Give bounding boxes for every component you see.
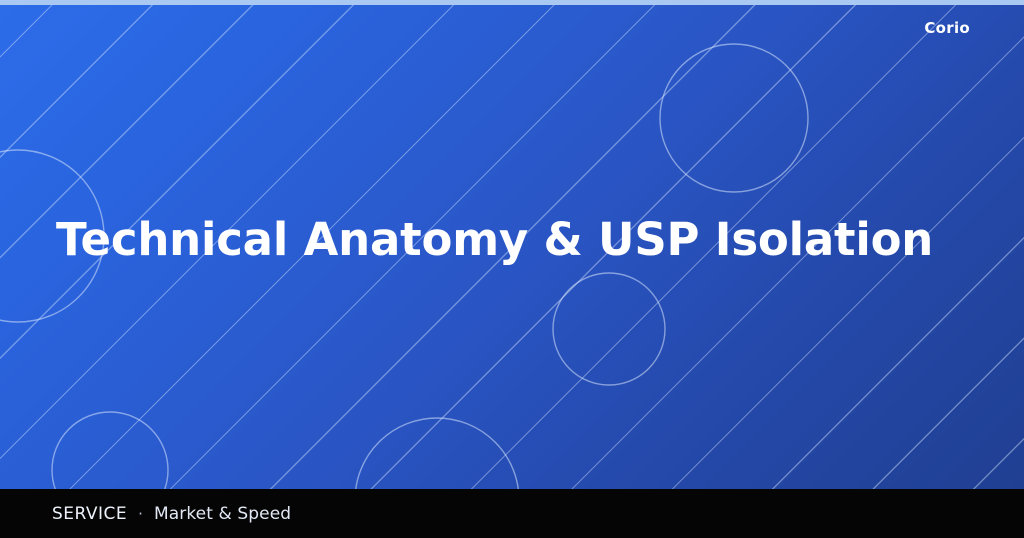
circle-bottom-center [355,418,519,489]
footer-kicker: SERVICE [52,504,127,524]
footer-bar: SERVICE · Market & Speed [0,489,1024,538]
circle-bottom-left [52,412,168,489]
footer-separator: · [127,505,154,523]
circle-middle [553,273,665,385]
footer-content: SERVICE · Market & Speed [0,504,291,524]
top-accent-bar [0,0,1024,5]
footer-subject: Market & Speed [154,504,291,524]
slide-title: Technical Anatomy & USP Isolation [56,215,933,265]
circle-top-right [660,44,808,192]
title-slide: Corio Technical Anatomy & USP Isolation … [0,0,1024,538]
brand-logo: Corio [924,21,970,36]
